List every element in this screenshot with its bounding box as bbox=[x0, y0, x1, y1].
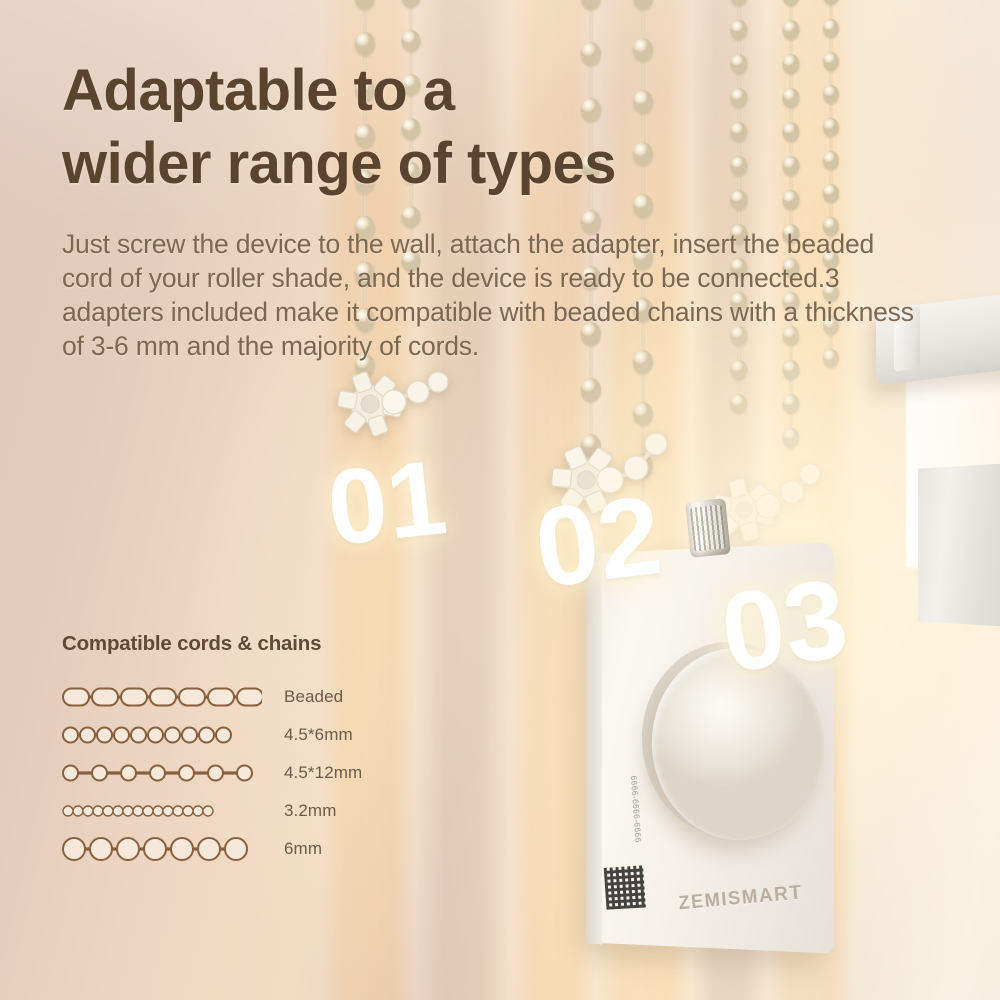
legend-row: 4.5*12mm bbox=[62, 754, 392, 792]
headline-line-1: Adaptable to a bbox=[62, 54, 762, 127]
legend-row-label: 3.2mm bbox=[284, 801, 336, 821]
chain-45x12-icon bbox=[62, 758, 262, 788]
legend-row-label: 4.5*12mm bbox=[284, 763, 362, 783]
page-title: Adaptable to a wider range of types bbox=[62, 54, 762, 200]
marketing-copy-overlay: Adaptable to a wider range of types Just… bbox=[0, 0, 1000, 1000]
chain-6mm-icon bbox=[62, 834, 262, 864]
step-number-02: 02 bbox=[530, 479, 667, 605]
step-number-03: 03 bbox=[715, 562, 854, 690]
legend-title: Compatible cords & chains bbox=[62, 632, 392, 656]
legend-row-label: 6mm bbox=[284, 839, 322, 859]
step-number-01: 01 bbox=[323, 444, 451, 562]
legend-row: 6mm bbox=[62, 830, 392, 868]
chain-beaded-oval-icon bbox=[62, 682, 262, 712]
legend-row-label: Beaded bbox=[284, 687, 343, 707]
headline-line-2: wider range of types bbox=[62, 127, 762, 200]
legend-rows: Beaded4.5*6mm4.5*12mm3.2mm6mm bbox=[62, 678, 392, 868]
body-paragraph: Just screw the device to the wall, attac… bbox=[62, 228, 924, 364]
legend-row: 4.5*6mm bbox=[62, 716, 392, 754]
chain-32mm-icon bbox=[62, 796, 262, 826]
legend-row-label: 4.5*6mm bbox=[284, 725, 353, 745]
compatible-cords-legend: Compatible cords & chains Beaded4.5*6mm4… bbox=[62, 632, 392, 868]
legend-row: 3.2mm bbox=[62, 792, 392, 830]
chain-45x6-icon bbox=[62, 720, 262, 750]
legend-row: Beaded bbox=[62, 678, 392, 716]
